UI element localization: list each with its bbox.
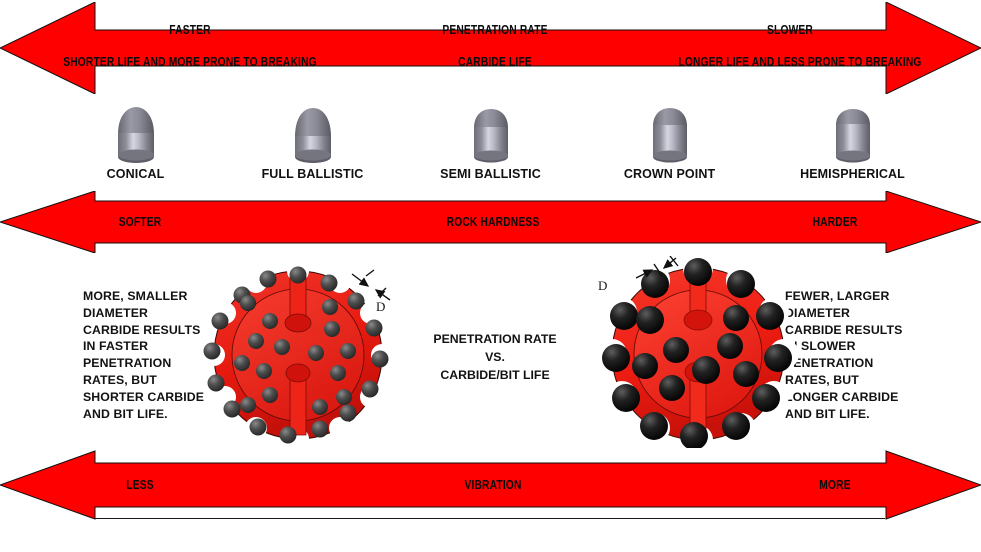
comparison-text-right: FEWER, LARGER DIAMETER CARBIDE RESULTS I… bbox=[785, 288, 945, 422]
crown-point-insert-icon bbox=[647, 104, 693, 166]
insert-label-hemispherical: HEMISPHERICAL bbox=[790, 167, 915, 181]
insert-label-conical: CONICAL bbox=[78, 167, 193, 181]
drill-bit-small-buttons[interactable]: D bbox=[198, 263, 398, 453]
carbide-insert-row: CONICAL bbox=[0, 96, 981, 188]
band-label-right-more: MORE bbox=[794, 478, 876, 492]
hemispherical-insert-icon bbox=[830, 104, 876, 166]
band-vibration: LESS VIBRATION MORE bbox=[0, 449, 981, 521]
band-label-right-longer-life: LONGER LIFE AND LESS PRONE TO BREAKING bbox=[661, 55, 940, 69]
band-label-center-rock-hardness: ROCK HARDNESS bbox=[440, 215, 547, 229]
comparison-section: MORE, SMALLER DIAMETER CARBIDE RESULTS I… bbox=[0, 255, 981, 451]
bottom-divider bbox=[95, 518, 885, 519]
band-label-left-less: LESS bbox=[99, 478, 181, 492]
comparison-text-center: PENETRATION RATE VS. CARBIDE/BIT LIFE bbox=[395, 330, 595, 384]
insert-conical[interactable]: CONICAL bbox=[78, 104, 193, 181]
conical-insert-icon bbox=[113, 104, 159, 166]
drill-bit-large-buttons[interactable]: D bbox=[598, 258, 798, 453]
insert-label-crown-point: CROWN POINT bbox=[612, 167, 727, 181]
insert-crown-point[interactable]: CROWN POINT bbox=[612, 104, 727, 181]
diameter-callout-right bbox=[618, 256, 688, 311]
full-ballistic-insert-icon bbox=[290, 104, 336, 166]
band-label-center-carbide-life: CARBIDE LIFE bbox=[442, 55, 549, 69]
insert-hemispherical[interactable]: HEMISPHERICAL bbox=[790, 104, 915, 181]
insert-label-semi-ballistic: SEMI BALLISTIC bbox=[433, 167, 548, 181]
band-label-right-slower: SLOWER bbox=[741, 23, 839, 37]
double-arrow-shape bbox=[0, 2, 981, 94]
band-label-center-vibration: VIBRATION bbox=[440, 478, 547, 492]
diameter-label-left: D bbox=[376, 299, 385, 315]
band-label-left-shorter-life: SHORTER LIFE AND MORE PRONE TO BREAKING bbox=[51, 55, 330, 69]
diagram-canvas: FASTER PENETRATION RATE SLOWER SHORTER L… bbox=[0, 0, 981, 552]
insert-semi-ballistic[interactable]: SEMI BALLISTIC bbox=[433, 104, 548, 181]
band-rock-hardness: SOFTER ROCK HARDNESS HARDER bbox=[0, 191, 981, 253]
insert-label-full-ballistic: FULL BALLISTIC bbox=[255, 167, 370, 181]
insert-full-ballistic[interactable]: FULL BALLISTIC bbox=[255, 104, 370, 181]
band-label-center-penetration-rate: PENETRATION RATE bbox=[442, 23, 549, 37]
band-label-left-faster: FASTER bbox=[141, 23, 239, 37]
diameter-label-right: D bbox=[598, 278, 607, 294]
band-label-right-harder: HARDER bbox=[794, 215, 876, 229]
semi-ballistic-insert-icon bbox=[468, 104, 514, 166]
band-label-left-softer: SOFTER bbox=[99, 215, 181, 229]
band-penetration-carbide: FASTER PENETRATION RATE SLOWER SHORTER L… bbox=[0, 2, 981, 94]
